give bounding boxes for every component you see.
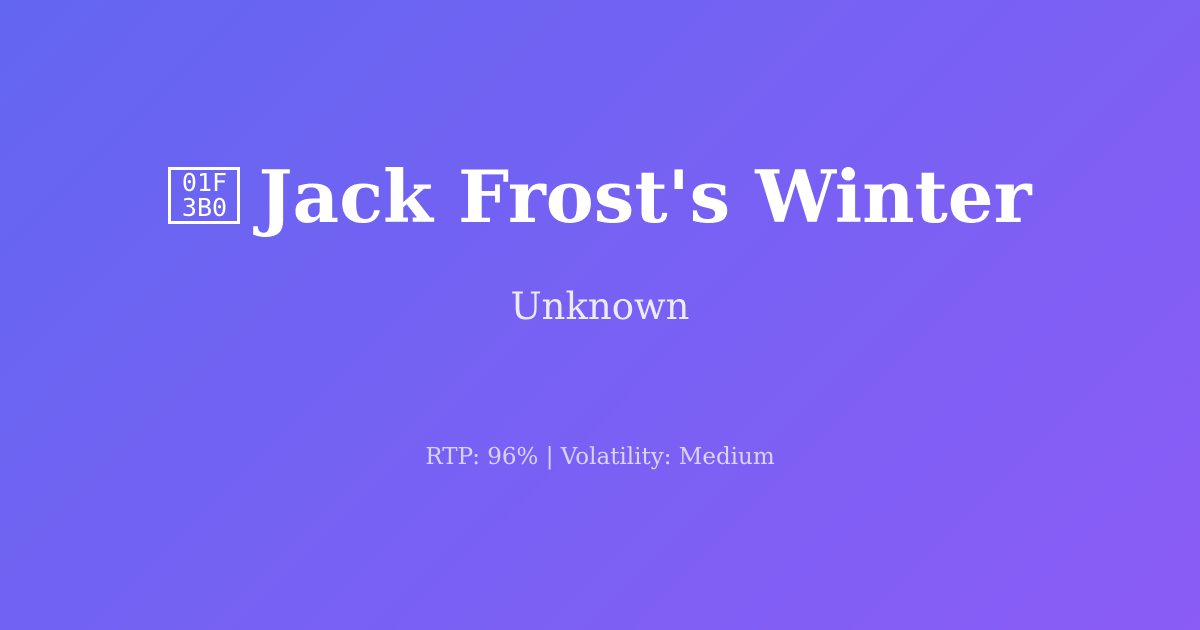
provider-label: Unknown (510, 287, 689, 328)
page-title: Jack Frost's Winter (258, 159, 1031, 235)
title-row: 01F 3B0 Jack Frost's Winter (168, 159, 1031, 235)
slot-machine-icon: 01F 3B0 (168, 167, 240, 224)
game-preview-card: 01F 3B0 Jack Frost's Winter Unknown RTP:… (0, 0, 1200, 630)
game-stats-line: RTP: 96% | Volatility: Medium (425, 445, 774, 470)
codepoint-top-row: 01F (182, 170, 227, 195)
codepoint-bottom-row: 3B0 (182, 195, 227, 220)
